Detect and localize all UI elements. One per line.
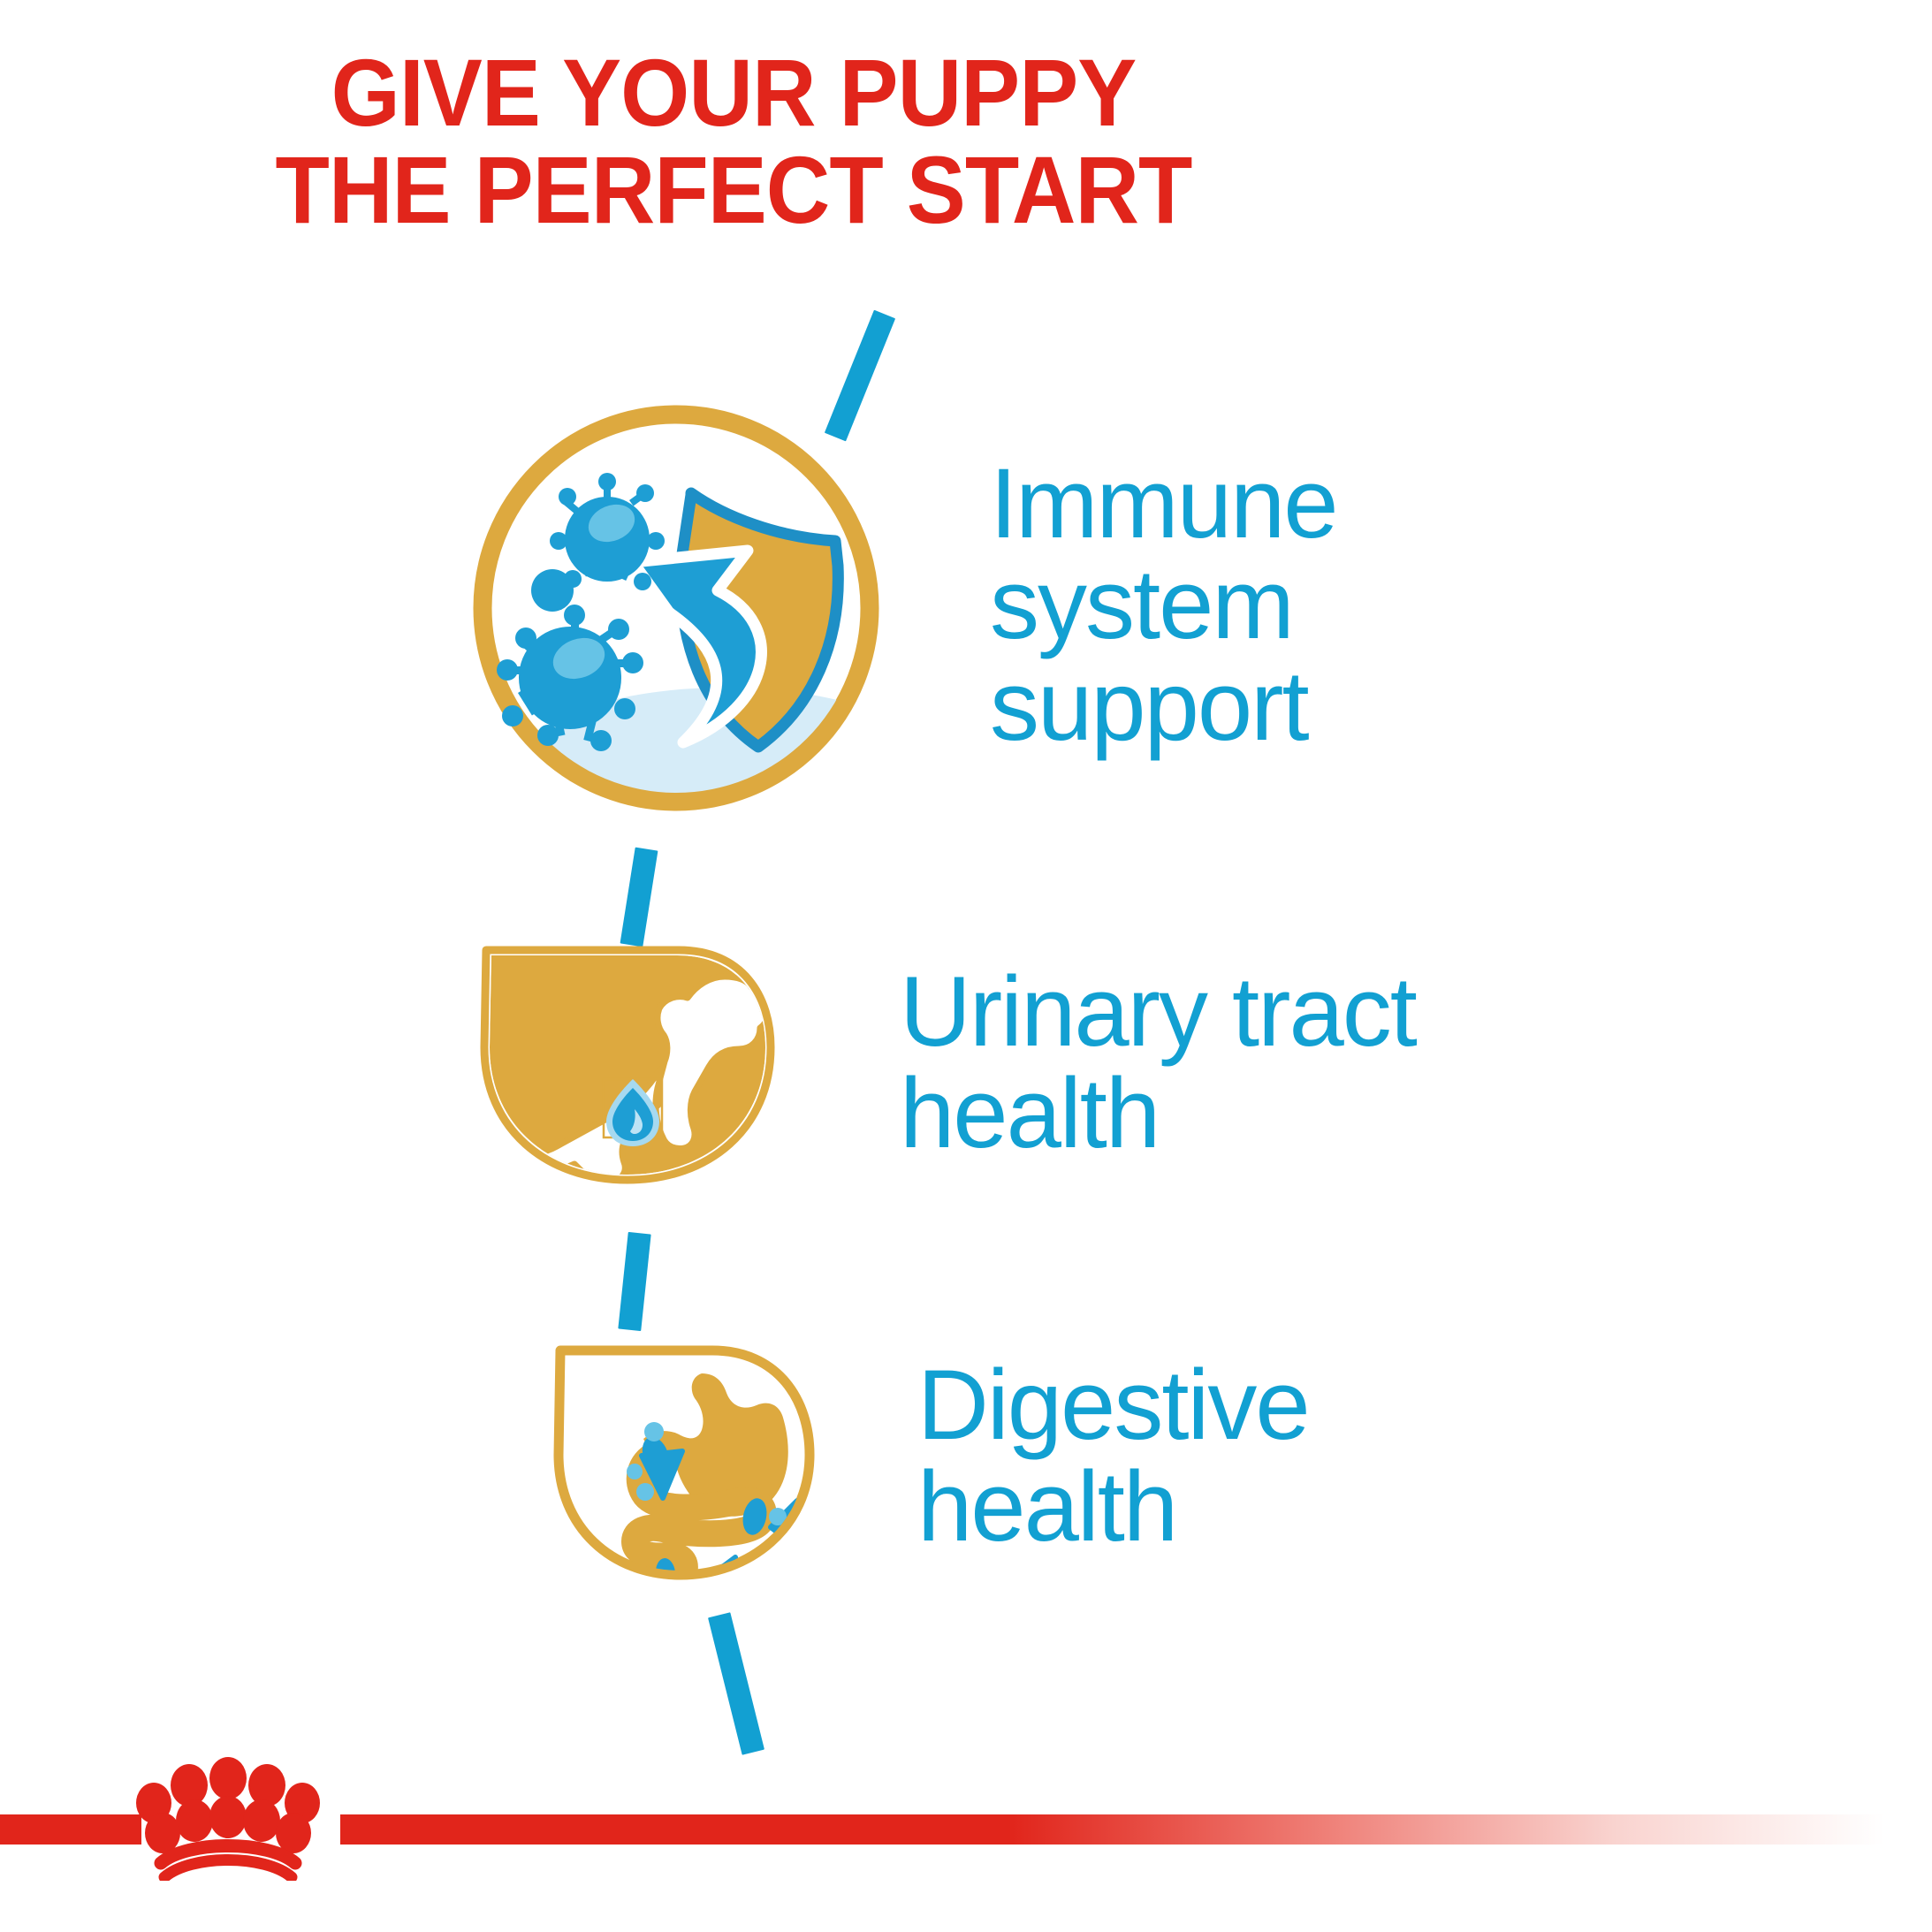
crown-dot-low-left	[145, 1813, 180, 1853]
benefit-label-urinary: Urinary tract health	[900, 962, 1416, 1163]
page-title: GIVE YOUR PUPPY THE PERFECT START	[51, 44, 1416, 239]
royal-canin-crown-logo	[134, 1748, 322, 1881]
crown-dot-inner-left	[176, 1799, 213, 1842]
benefit-label-digestive: Digestive health	[917, 1355, 1309, 1556]
headline-line-1: GIVE YOUR PUPPY	[51, 44, 1416, 141]
crown-dot-inner-right	[243, 1799, 280, 1842]
particle-3	[636, 1483, 654, 1501]
benefit-row-immune: Immune system support	[460, 389, 1337, 826]
immune-shield-virus-icon	[460, 389, 893, 826]
headline-line-2: THE PERFECT START	[51, 141, 1416, 239]
crown-dot-inner-center	[209, 1796, 247, 1838]
crown-dot-center	[209, 1757, 247, 1799]
crown-arc-inner	[164, 1860, 292, 1878]
particle-2	[627, 1464, 643, 1479]
footer-bar-left	[0, 1814, 141, 1845]
particle-1	[644, 1422, 664, 1441]
stomach-intestine-shield-icon	[521, 1308, 840, 1604]
puppy-water-drop-shield-icon	[460, 915, 813, 1211]
footer-bar-right	[340, 1814, 1932, 1845]
connector-dash-bottom	[708, 1612, 764, 1755]
crown-dot-left	[171, 1764, 208, 1806]
particle-6	[740, 1568, 759, 1587]
poster-canvas: GIVE YOUR PUPPY THE PERFECT START	[0, 0, 1932, 1932]
virus-dot	[531, 569, 574, 612]
benefit-row-urinary: Urinary tract health	[460, 915, 1416, 1211]
benefit-row-digestive: Digestive health	[521, 1308, 1309, 1604]
benefit-label-immune: Immune system support	[990, 453, 1337, 757]
crown-dot-right	[248, 1764, 285, 1806]
crown-dot-low-right	[276, 1813, 311, 1853]
